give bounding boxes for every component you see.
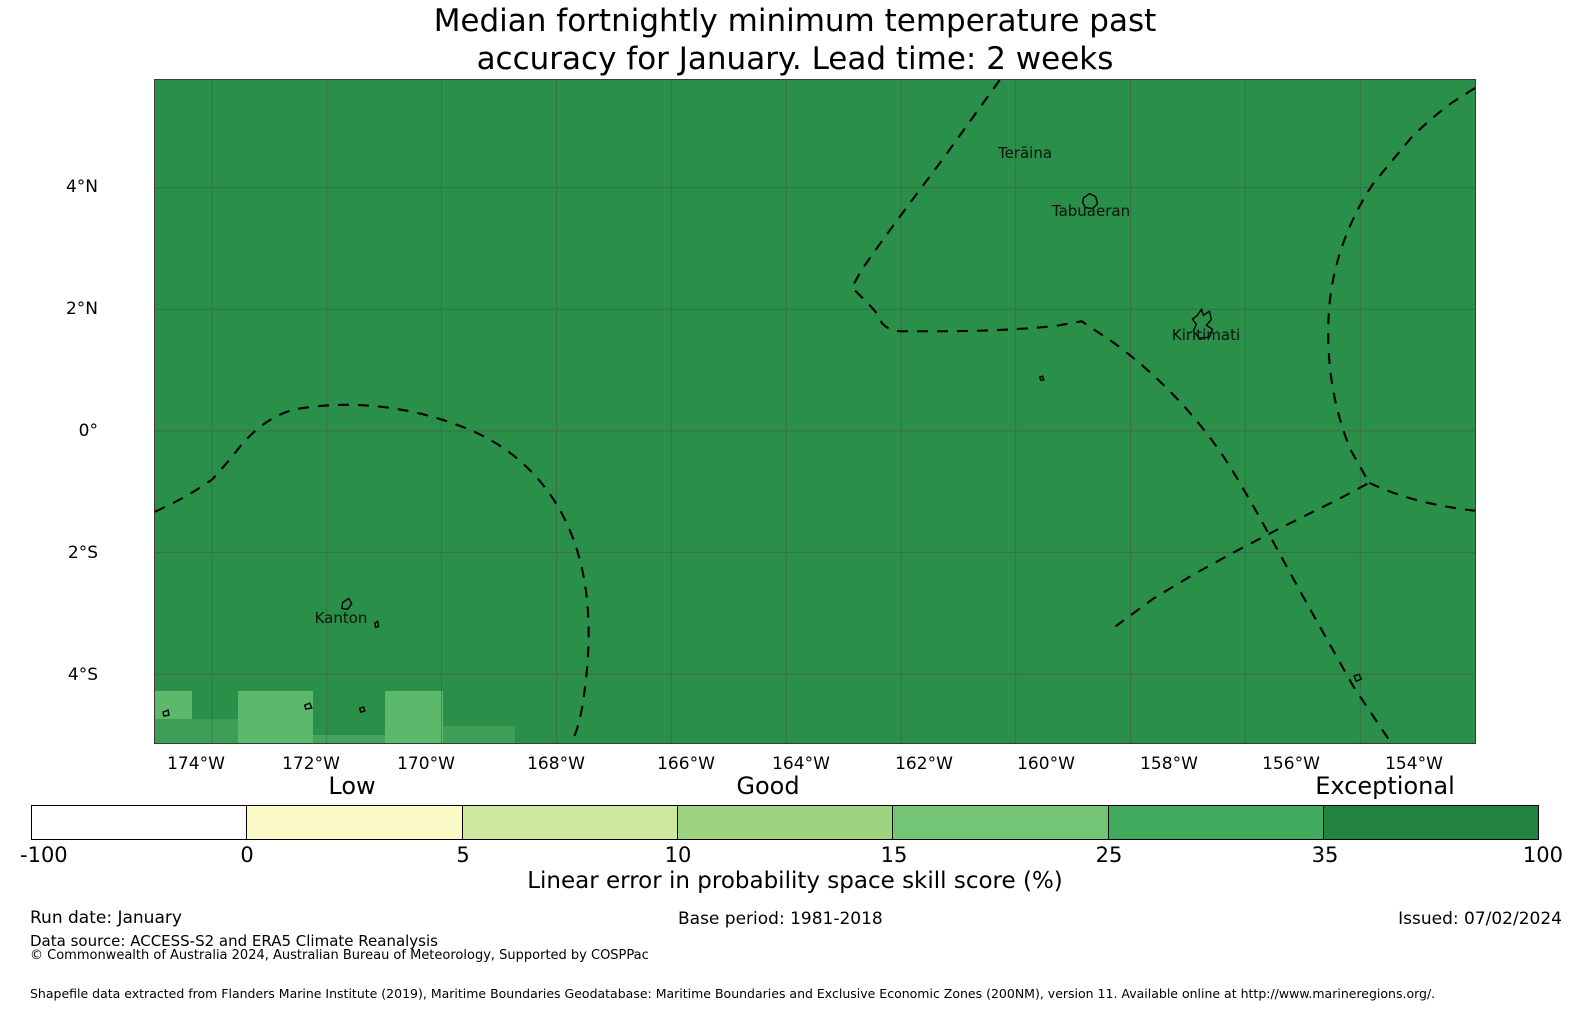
colorbar-tick: 0 (240, 843, 253, 867)
colorbar[interactable] (31, 805, 1539, 840)
colorbar-segment-neg100-0 (32, 806, 247, 839)
place-label-kiritimati: Kiritimati (1172, 326, 1240, 344)
place-label-teraina: Terāina (998, 144, 1052, 162)
colorbar-tick: 25 (1096, 843, 1123, 867)
footer-copyright: © Commonwealth of Australia 2024, Austra… (30, 948, 649, 963)
x-axis-tick: 170°W (397, 754, 455, 774)
colorbar-tick: 100 (1523, 843, 1563, 867)
x-axis-tick: 162°W (895, 754, 953, 774)
colorbar-segment-35-100 (1324, 806, 1538, 839)
colorbar-tick: 35 (1312, 843, 1339, 867)
x-axis-tick: 158°W (1140, 754, 1198, 774)
footer-base-period: Base period: 1981-2018 (678, 909, 883, 929)
y-axis-tick: 2°N (66, 299, 98, 319)
colorbar-tick: -100 (20, 843, 68, 867)
x-axis-tick: 172°W (282, 754, 340, 774)
colorbar-tick: 10 (665, 843, 692, 867)
footer-shapefile-attribution: Shapefile data extracted from Flanders M… (30, 986, 1435, 1001)
colorbar-caption: Linear error in probability space skill … (0, 868, 1590, 894)
colorbar-category-exceptional: Exceptional (1315, 772, 1455, 800)
y-axis-tick: 0° (79, 421, 98, 441)
x-axis-tick: 168°W (527, 754, 585, 774)
colorbar-segment-5-10 (463, 806, 678, 839)
place-label-tabuaeran: Tabuaeran (1052, 202, 1130, 220)
footer-issued-date: Issued: 07/02/2024 (1398, 909, 1562, 929)
colorbar-tick: 15 (881, 843, 908, 867)
colorbar-category-good: Good (736, 772, 799, 800)
x-axis-tick: 156°W (1262, 754, 1320, 774)
x-axis-tick: 166°W (657, 754, 715, 774)
page-title: Median fortnightly minimum temperature p… (0, 2, 1590, 78)
colorbar-tick: 5 (456, 843, 469, 867)
colorbar-segment-15-25 (893, 806, 1108, 839)
colorbar-segment-10-15 (678, 806, 893, 839)
x-axis-tick: 154°W (1385, 754, 1443, 774)
x-axis-tick: 174°W (167, 754, 225, 774)
y-axis-tick: 4°S (68, 665, 98, 685)
y-axis-tick: 4°N (66, 177, 98, 197)
x-axis-tick: 160°W (1017, 754, 1075, 774)
colorbar-segment-25-35 (1109, 806, 1324, 839)
place-label-kanton: Kanton (315, 609, 368, 627)
colorbar-segment-0-5 (247, 806, 462, 839)
footer-run-date: Run date: January (30, 908, 182, 928)
map-plot-area[interactable]: Terāina Tabuaeran Kiritimati Kanton (154, 79, 1476, 744)
x-axis-tick: 164°W (772, 754, 830, 774)
place-labels-layer: Terāina Tabuaeran Kiritimati Kanton (155, 80, 1475, 743)
y-axis-tick: 2°S (68, 543, 98, 563)
colorbar-category-low: Low (328, 772, 375, 800)
